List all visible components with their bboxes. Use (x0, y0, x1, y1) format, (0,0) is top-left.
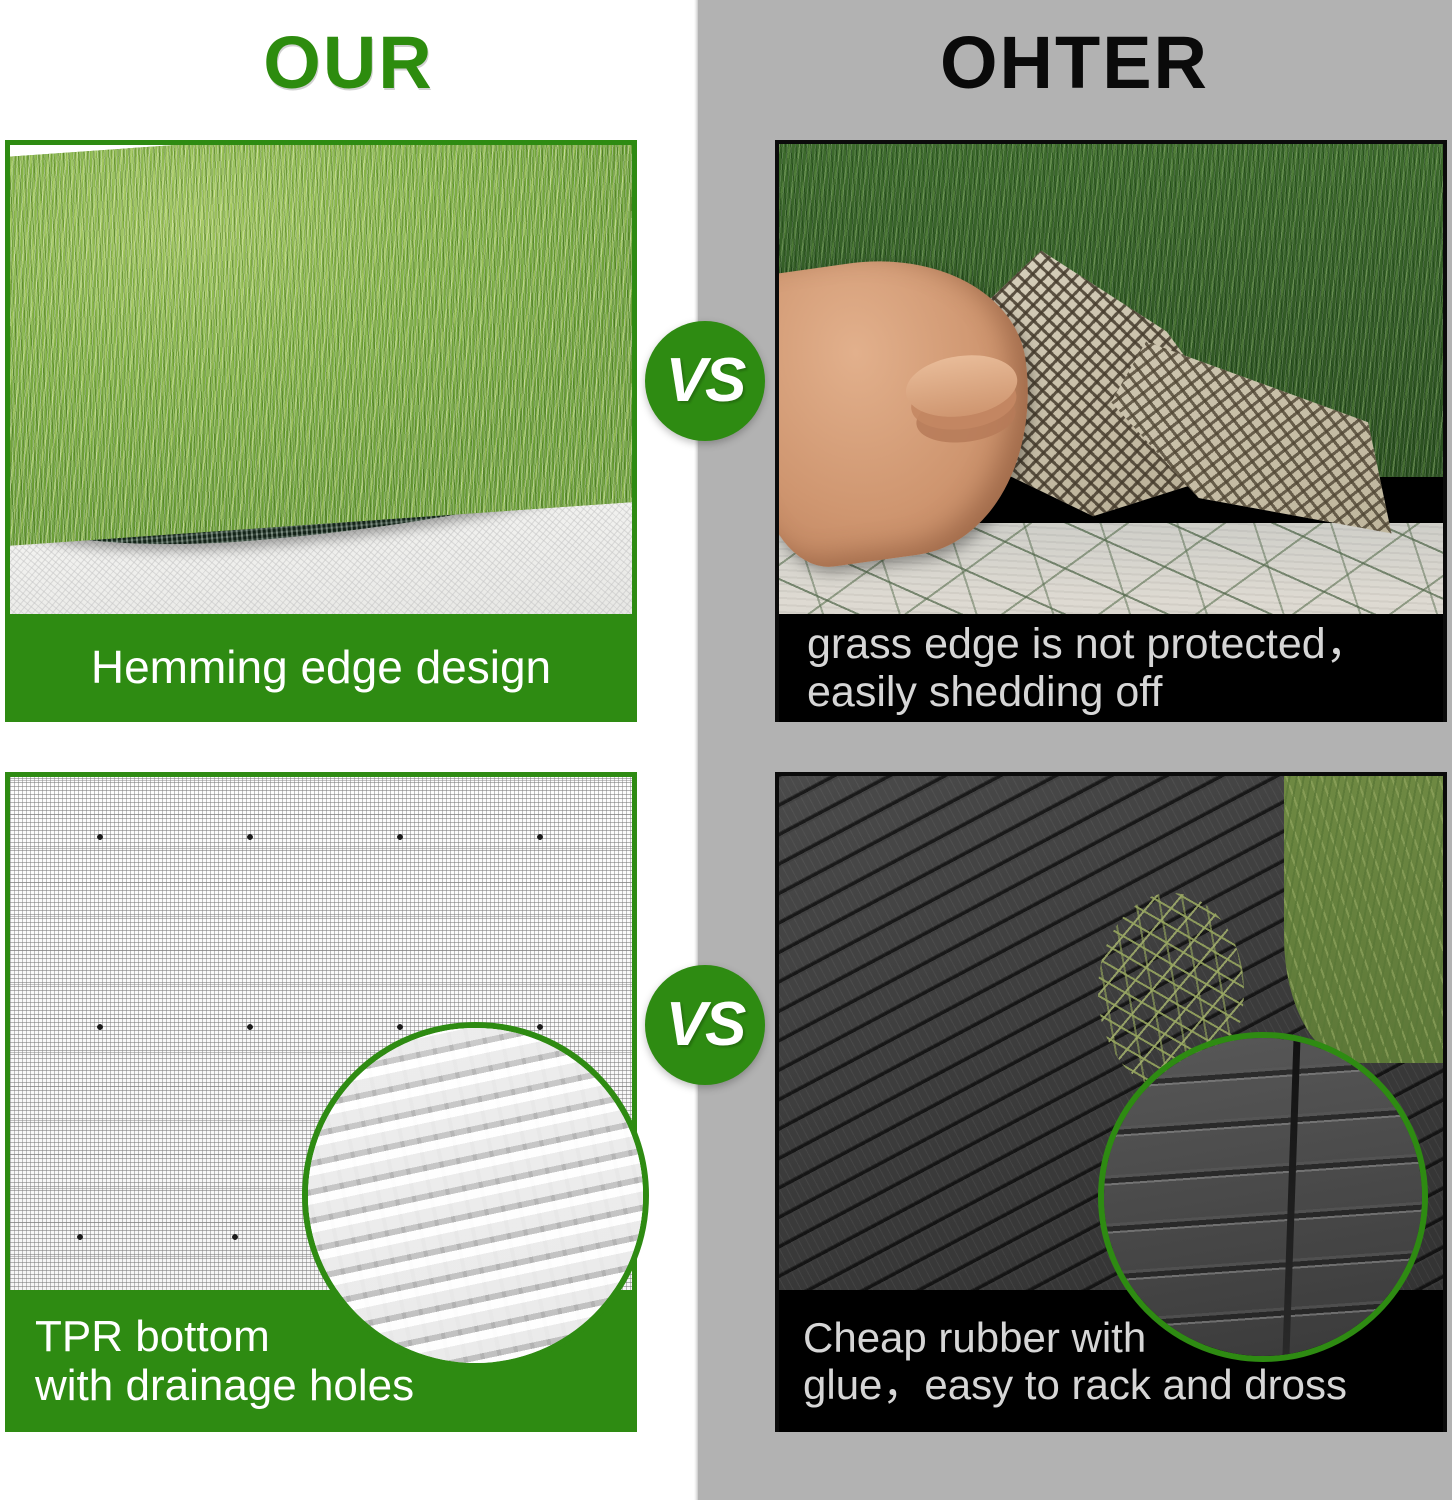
vs-badge-top: VS (645, 321, 765, 441)
vs-badge-bottom-label: VS (666, 994, 745, 1056)
rubber-ridge-closeup (1104, 1038, 1422, 1356)
vs-badge-bottom: VS (645, 965, 765, 1085)
inset-magnifier-rubber-crack (1098, 1032, 1428, 1362)
caption-top-left: Hemming edge design (5, 614, 637, 722)
column-divider (694, 0, 698, 1500)
caption-top-left-text: Hemming edge design (91, 642, 551, 694)
tpr-nub-closeup (308, 1028, 643, 1363)
vs-badge-top-label: VS (666, 350, 745, 412)
caption-top-right: grass edge is not protected， easily shed… (779, 614, 1443, 722)
turf-grass-edge (1284, 772, 1447, 1063)
heading-other: OHTER (697, 26, 1452, 100)
caption-top-right-line2: easily shedding off (807, 668, 1369, 716)
caption-top-right-line1: grass edge is not protected， (807, 620, 1369, 668)
inset-magnifier-tpr-texture (302, 1022, 649, 1369)
caption-bottom-right-line2: glue，easy to rack and dross (803, 1361, 1347, 1408)
caption-bottom-left-line2: with drainage holes (35, 1361, 414, 1410)
grass-pile-surface (5, 140, 637, 547)
heading-our: OUR (0, 26, 697, 100)
